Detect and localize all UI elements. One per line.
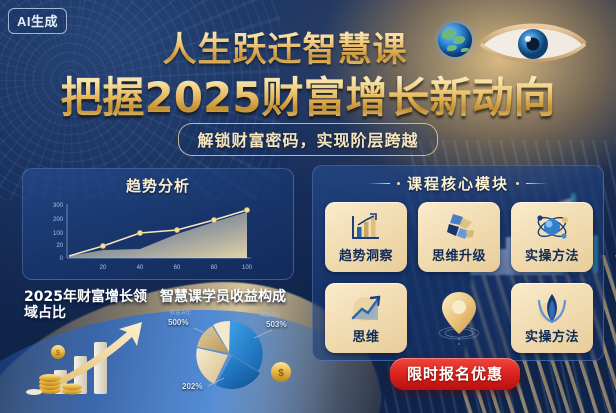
trend-line-chart: 300 200 100 20 0 20 40 60 80 100: [23, 196, 295, 276]
svg-text:20: 20: [100, 265, 107, 271]
bar-chart-icon: [346, 211, 386, 244]
core-modules-panel: 课程核心模块 趋势洞察: [312, 165, 604, 361]
module-label: 思维: [352, 326, 379, 345]
cta-button[interactable]: 限时报名优惠: [390, 358, 520, 390]
atom-icon: [532, 211, 572, 244]
module-card-trend-insight[interactable]: 趋势洞察: [325, 202, 407, 272]
trend-arrow-icon: [346, 292, 386, 325]
svg-text:100: 100: [53, 231, 64, 237]
module-card-mindset-upgrade[interactable]: 思维升级: [418, 202, 500, 272]
module-card-location-pin[interactable]: [418, 283, 500, 353]
svg-text:0: 0: [60, 256, 64, 262]
modules-heading: 课程核心模块: [407, 173, 509, 194]
svg-text:$: $: [278, 368, 284, 379]
module-card-practical-method-2[interactable]: 实操方法: [511, 283, 593, 353]
location-pin-icon: [436, 288, 482, 348]
pie-sub-note-right: 收益占比: [260, 311, 280, 318]
svg-text:200: 200: [53, 217, 64, 223]
dash-left-decoration: [368, 183, 390, 184]
trend-analysis-panel: 趋势分析 300 200 100 20 0 20: [22, 168, 294, 280]
poster-canvas: AI生成: [0, 0, 616, 413]
modules-heading-row: 课程核心模块: [313, 173, 603, 194]
pie-slice-label-3: 202%: [182, 382, 202, 391]
module-label: 思维升级: [432, 245, 486, 264]
module-label: 实操方法: [525, 245, 579, 264]
pie-slice-label-2: 503%: [266, 320, 286, 329]
stat-heading-earnings-composition: 智慧课学员收益构成: [160, 289, 305, 305]
svg-text:40: 40: [137, 265, 144, 271]
svg-text:20: 20: [56, 243, 63, 249]
puzzle-pieces-icon: [439, 211, 479, 244]
pie-sub-note-left: 收益占比: [170, 309, 191, 316]
module-card-practical-method-1[interactable]: 实操方法: [511, 202, 593, 272]
pie-slice-label-1: 500%: [168, 318, 188, 327]
hero-subtitle: 解锁财富密码，实现阶层跨越: [178, 123, 437, 156]
svg-text:$: $: [56, 350, 60, 357]
svg-text:100: 100: [242, 265, 253, 271]
dash-right-decoration: [526, 183, 548, 184]
modules-grid: 趋势洞察 思维升级: [325, 202, 593, 353]
svg-text:300: 300: [53, 203, 64, 209]
svg-text:60: 60: [174, 265, 181, 271]
hero-title-line-2: 把握2025财富增长新动向: [0, 64, 616, 125]
module-card-thinking[interactable]: 思维: [325, 283, 407, 353]
leaf-wing-icon: [532, 292, 572, 325]
module-label: 实操方法: [525, 326, 579, 345]
earnings-pie-chart: 收益占比 收益占比: [168, 306, 298, 401]
dot-right-decoration: [516, 182, 519, 185]
gold-coins-icon: $: [24, 312, 164, 397]
svg-text:80: 80: [211, 265, 218, 271]
dot-left-decoration: [397, 182, 400, 185]
trend-panel-title: 趋势分析: [23, 175, 293, 196]
module-label: 趋势洞察: [339, 245, 393, 264]
